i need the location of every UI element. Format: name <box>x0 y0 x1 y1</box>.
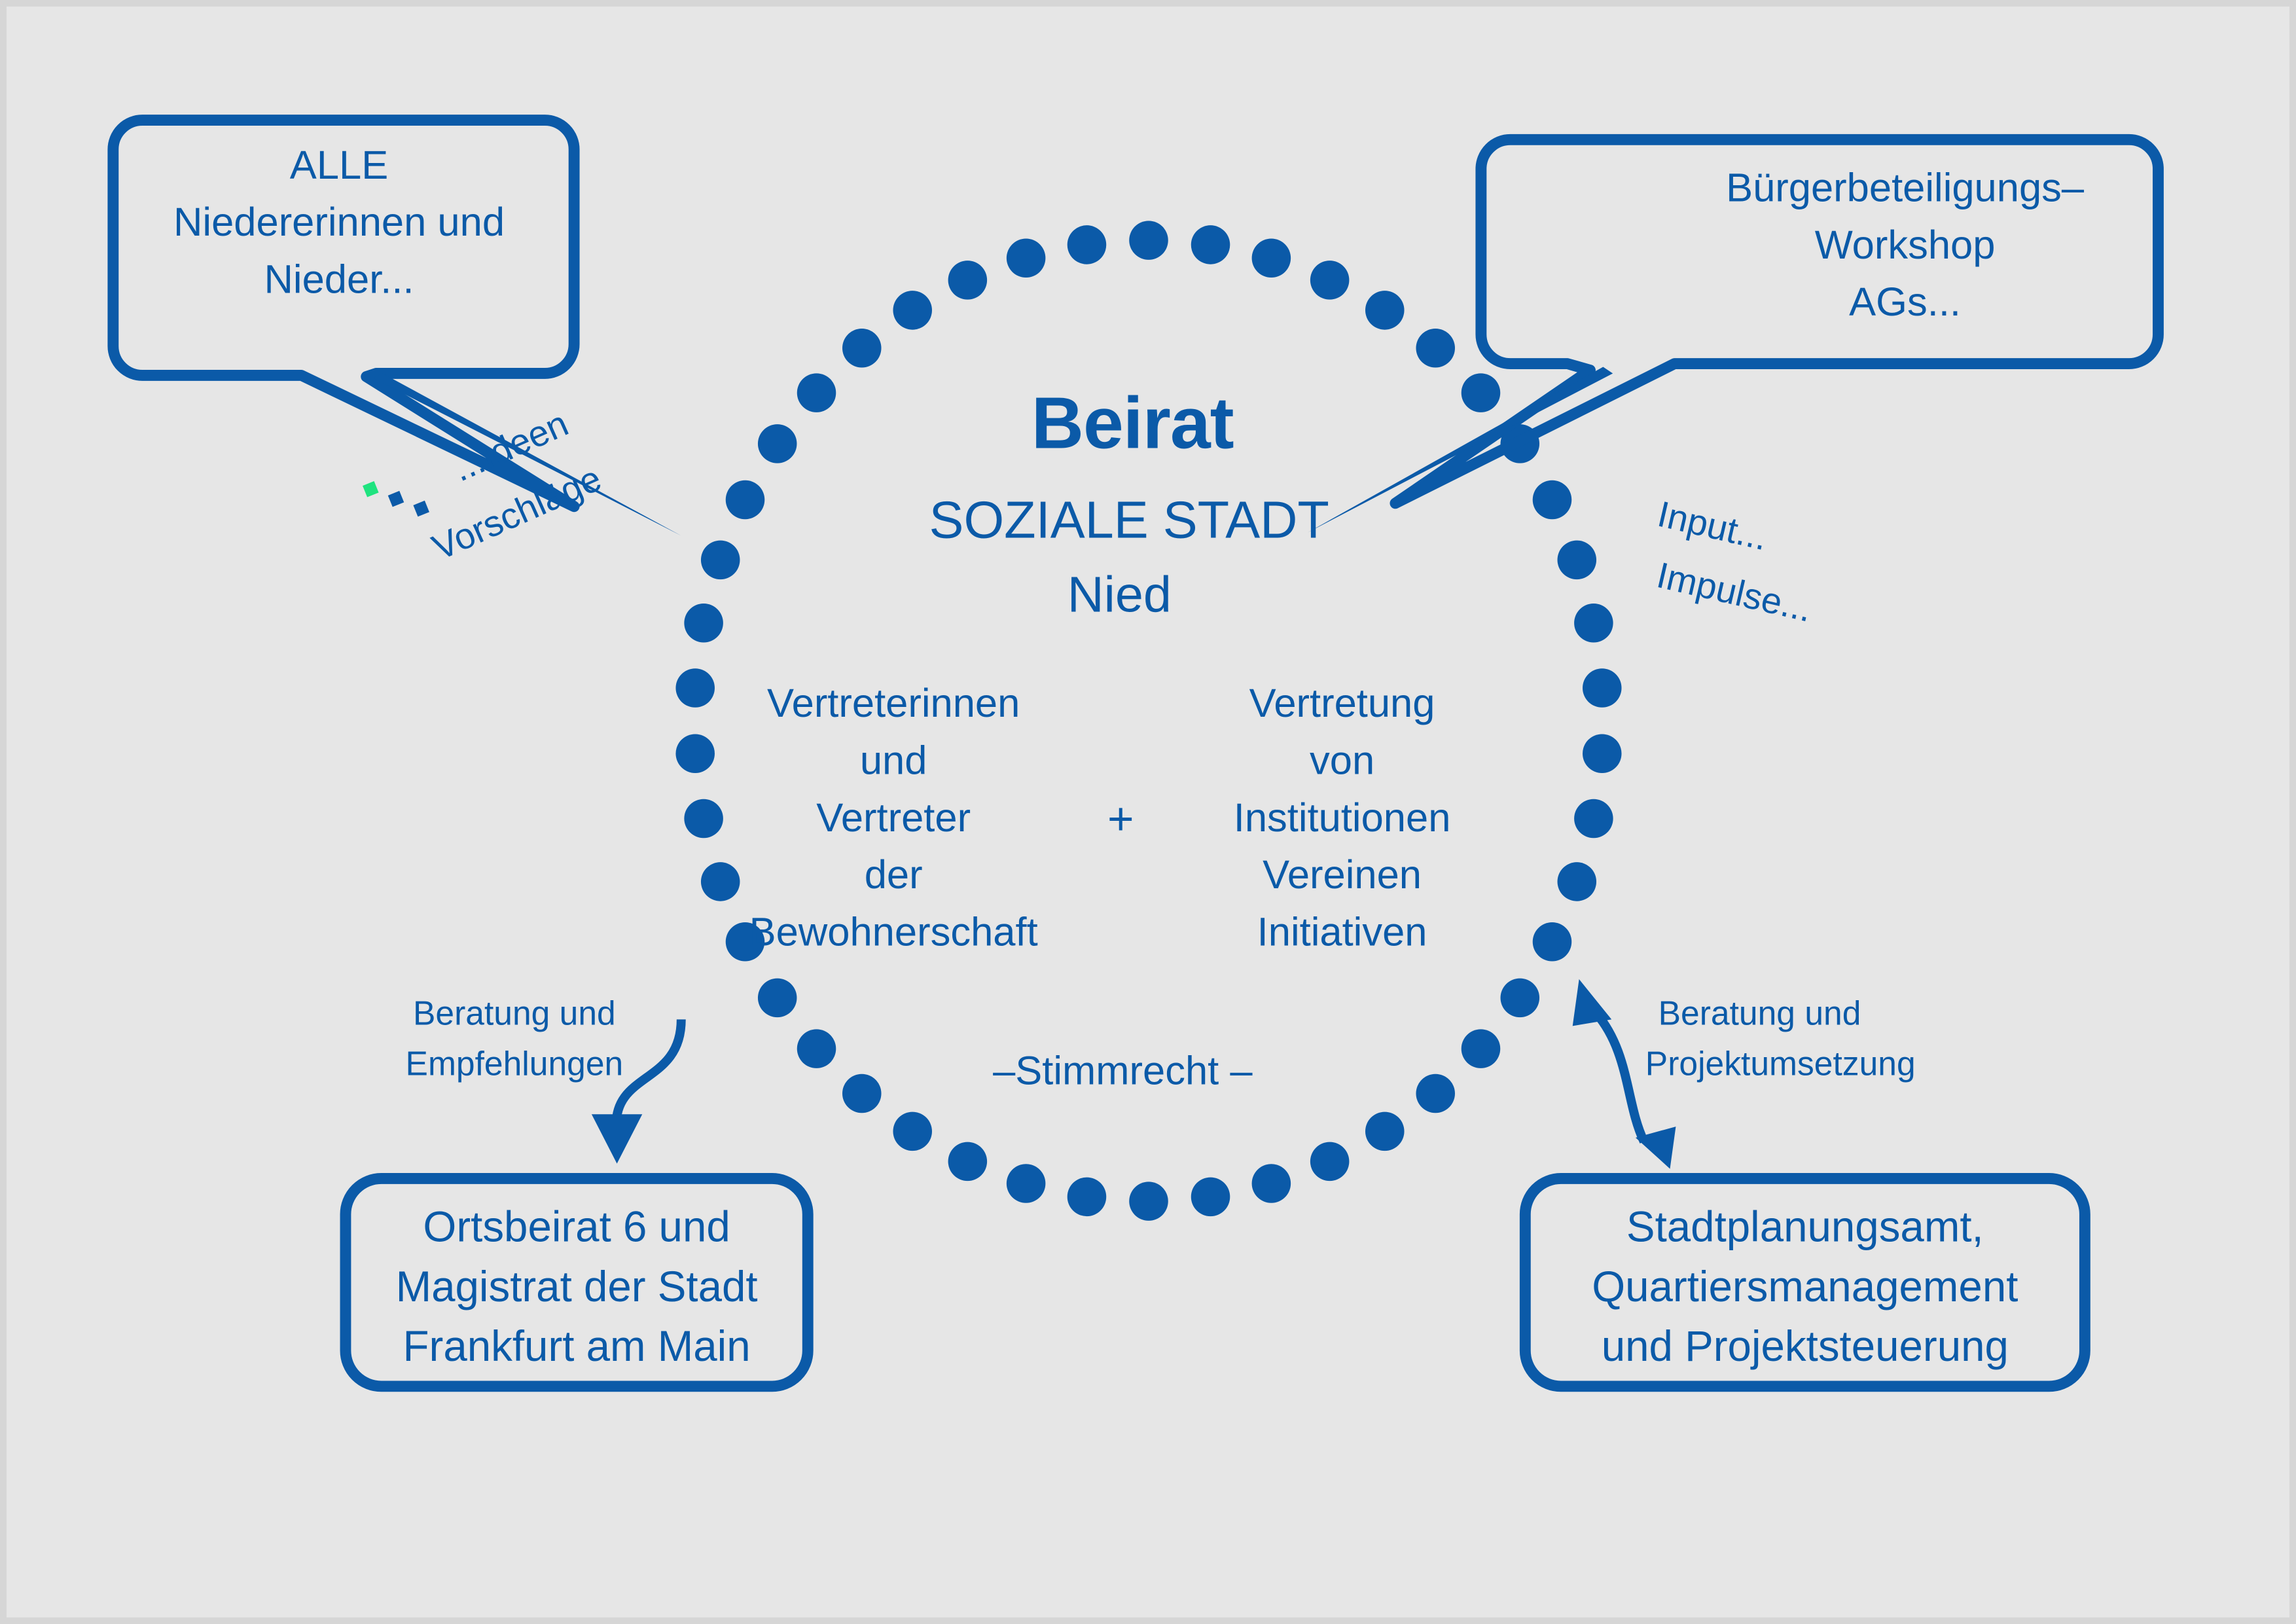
ring-dot <box>1365 1112 1405 1151</box>
ring-dot <box>1310 1142 1350 1182</box>
ring-dot <box>1129 221 1168 260</box>
ring-dot <box>1067 1178 1107 1217</box>
ring-dot <box>1501 979 1540 1018</box>
box-br-line-2: Quartiersmanagement <box>1592 1263 2018 1310</box>
arrow-bottom-left <box>592 1019 681 1163</box>
ring-dot <box>701 541 740 580</box>
diagram-svg: ALLE Niedererinnen und Nieder... Bürgerb… <box>7 7 2289 1617</box>
label-bottom-left-arrow: Beratung und Empfehlungen <box>406 994 624 1082</box>
bubble-tl-line-3: Nieder... <box>264 257 414 302</box>
ring-dot <box>675 734 715 773</box>
right-col-line-4: Vereinen <box>1263 852 1422 897</box>
ring-dot <box>1067 225 1107 264</box>
ring-dot <box>1462 1029 1501 1068</box>
ring-dot <box>1533 480 1572 520</box>
ring-dot <box>1558 862 1597 901</box>
center-subtitle-1: SOZIALE STADT <box>929 490 1329 549</box>
ring-dot <box>1007 1164 1046 1203</box>
ring-dot <box>1574 604 1613 643</box>
ring-dot <box>1574 799 1613 839</box>
right-col-line-1: Vertretung <box>1249 681 1435 726</box>
flow-label-left: ...Ideen Vorschläge <box>401 399 607 568</box>
ring-dot <box>1416 1074 1455 1113</box>
bl-arrow-label-2: Empfehlungen <box>406 1045 624 1083</box>
flow-label-right: Input... Impulse... <box>1640 494 1829 630</box>
ring-dot <box>1310 261 1350 300</box>
box-br-line-3: und Projektsteuerung <box>1602 1322 2009 1370</box>
left-col-line-1: Vertreterinnen <box>767 681 1020 726</box>
left-col-line-3: Vertreter <box>816 795 971 840</box>
flow-right-line-2: Impulse... <box>1653 554 1816 630</box>
box-bl-line-2: Magistrat der Stadt <box>396 1263 758 1310</box>
ring-dot <box>1533 922 1572 962</box>
center-left-column: Vertreterinnen und Vertreter der Bewohne… <box>749 681 1038 954</box>
ring-dot <box>797 1029 836 1068</box>
ring-dot <box>842 329 882 368</box>
br-arrow-label-1: Beratung und <box>1659 994 1861 1032</box>
ring-dot <box>948 1142 988 1182</box>
flow-left-leader-dots <box>363 481 429 516</box>
left-col-line-4: der <box>865 852 923 897</box>
right-col-line-3: Institutionen <box>1234 795 1451 840</box>
stimmrecht-note: –Stimmrecht – <box>993 1049 1253 1094</box>
center-right-column: Vertretung von Institutionen Vereinen In… <box>1234 681 1451 954</box>
ring-dot <box>1252 1164 1291 1203</box>
plus-operator: + <box>1107 793 1134 844</box>
bubble-tl-line-2: Niedererinnen und <box>173 200 505 245</box>
bubble-tr-line-1: Bürgerbeteiligungs– <box>1726 166 2085 211</box>
ring-dot <box>1365 291 1405 330</box>
ring-dot <box>1007 239 1046 278</box>
box-bl-line-3: Frankfurt am Main <box>403 1322 751 1370</box>
ring-dot <box>948 261 988 300</box>
ring-dot <box>1129 1182 1168 1221</box>
left-col-line-5: Bewohnerschaft <box>749 909 1038 954</box>
ring-dot <box>1462 373 1501 412</box>
br-arrow-label-2: Projektumsetzung <box>1645 1045 1916 1083</box>
ring-dot <box>758 979 797 1018</box>
ring-dot <box>726 480 765 520</box>
box-bottom-left[interactable]: Ortsbeirat 6 und Magistrat der Stadt Fra… <box>346 1178 808 1386</box>
box-bottom-right[interactable]: Stadtplanungsamt, Quartiersmanagement un… <box>1525 1178 2085 1386</box>
ring-dot <box>675 668 715 708</box>
ring-dot <box>893 1112 932 1151</box>
box-bl-line-1: Ortsbeirat 6 und <box>423 1203 730 1251</box>
label-bottom-right-arrow: Beratung und Projektumsetzung <box>1645 994 1916 1082</box>
page-title: Beirat <box>1031 382 1234 464</box>
left-col-line-2: und <box>860 738 927 783</box>
ring-dot <box>1191 225 1230 264</box>
right-col-line-2: von <box>1310 738 1374 783</box>
ring-dot <box>1191 1178 1230 1217</box>
ring-dot <box>1416 329 1455 368</box>
ring-dot <box>893 291 932 330</box>
ring-dot <box>758 424 797 463</box>
ring-dot <box>1252 239 1291 278</box>
flow-right-line-1: Input... <box>1654 494 1771 558</box>
right-col-line-5: Initiativen <box>1257 909 1427 954</box>
bl-arrow-label-1: Beratung und <box>413 994 616 1032</box>
bubble-tr-line-2: Workshop <box>1815 223 1996 268</box>
ring-dot <box>1558 541 1597 580</box>
ring-dot <box>684 604 723 643</box>
bubble-tr-line-3: AGs... <box>1849 280 1961 325</box>
ring-dot <box>684 799 723 839</box>
box-br-line-1: Stadtplanungsamt, <box>1626 1203 1984 1251</box>
diagram-canvas: ALLE Niedererinnen und Nieder... Bürgerb… <box>0 0 2296 1624</box>
ring-dot <box>1583 734 1622 773</box>
ring-dot <box>842 1074 882 1113</box>
bubble-tl-line-1: ALLE <box>290 143 388 188</box>
center-subtitle-2: Nied <box>1067 566 1172 623</box>
ring-dot <box>1583 668 1622 708</box>
ring-dot <box>797 373 836 412</box>
center-title-group: Beirat SOZIALE STADT Nied <box>929 382 1329 623</box>
ring-dot <box>701 862 740 901</box>
